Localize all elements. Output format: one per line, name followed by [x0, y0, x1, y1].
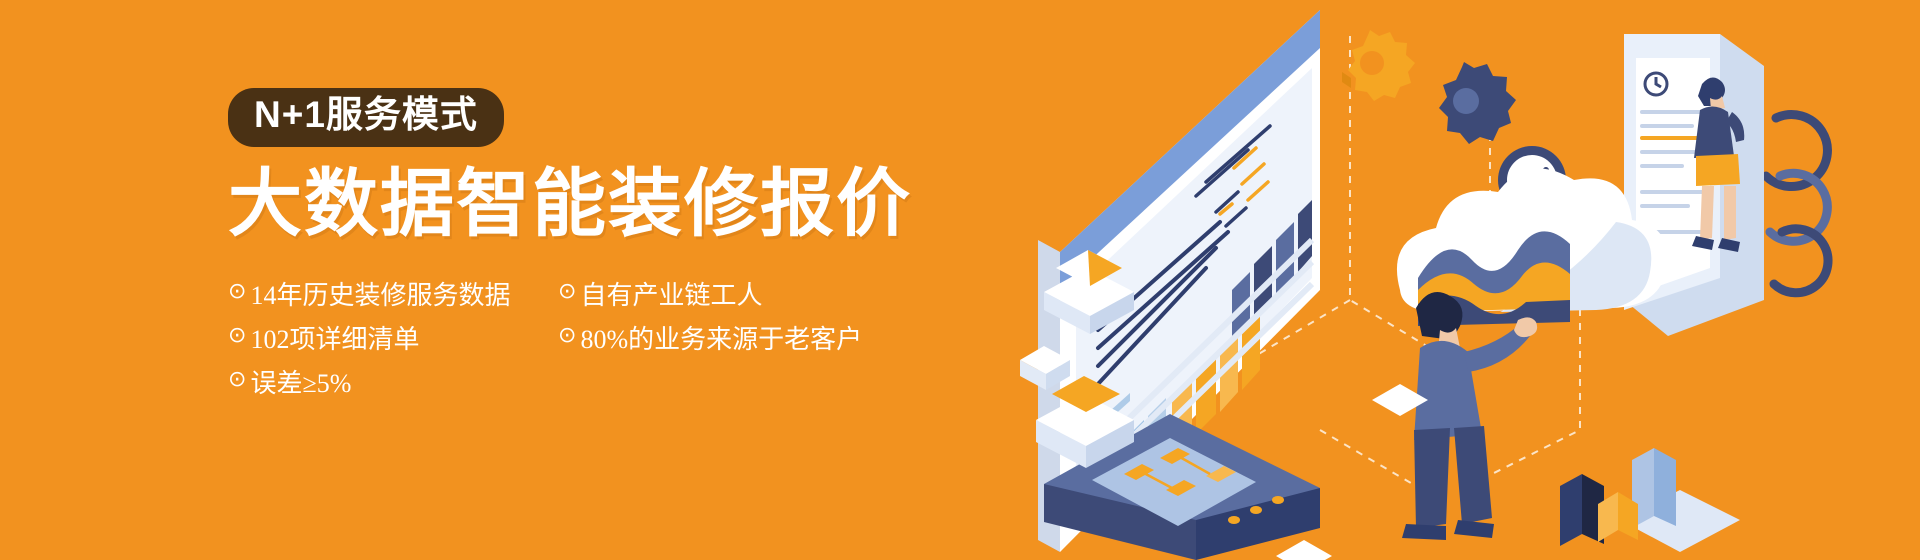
navy-gear-icon — [1439, 62, 1516, 144]
list-item: ⊙ 自有产业链工人 — [558, 271, 898, 315]
businessman-figure — [1402, 292, 1537, 540]
circled-dot-icon: ⊙ — [228, 369, 246, 391]
circled-dot-icon: ⊙ — [228, 325, 246, 347]
bar-chart-columns — [1560, 448, 1740, 552]
service-model-badge: N+1服务模式 — [228, 88, 504, 147]
page-title: 大数据智能装修报价 — [228, 165, 928, 243]
list-item-label: 自有产业链工人 — [580, 275, 762, 312]
ring-arcs — [1766, 115, 1828, 293]
list-item-label: 误差≥5% — [250, 363, 351, 400]
list-item: ⊙ 14年历史装修服务数据 — [228, 271, 548, 315]
circled-dot-icon: ⊙ — [558, 281, 576, 303]
isometric-illustration — [1020, 0, 1920, 560]
list-item-label: 102项详细清单 — [250, 319, 419, 356]
circled-dot-icon: ⊙ — [228, 281, 246, 303]
orange-gear-icon — [1342, 30, 1415, 101]
list-item-label: 14年历史装修服务数据 — [250, 275, 510, 312]
list-item-label: 80%的业务来源于老客户 — [580, 319, 862, 356]
feature-list: ⊙ 14年历史装修服务数据 ⊙ 102项详细清单 ⊙ 误差≥5% ⊙ 自有产业链… — [228, 271, 928, 403]
copy-block: N+1服务模式 大数据智能装修报价 ⊙ 14年历史装修服务数据 ⊙ 102项详细… — [228, 88, 928, 403]
circled-dot-icon: ⊙ — [558, 325, 576, 347]
list-item: ⊙ 80%的业务来源于老客户 — [558, 315, 898, 359]
list-item: ⊙ 误差≥5% — [228, 359, 548, 403]
list-item: ⊙ 102项详细清单 — [228, 315, 548, 359]
promo-banner: N+1服务模式 大数据智能装修报价 ⊙ 14年历史装修服务数据 ⊙ 102项详细… — [0, 0, 1920, 560]
